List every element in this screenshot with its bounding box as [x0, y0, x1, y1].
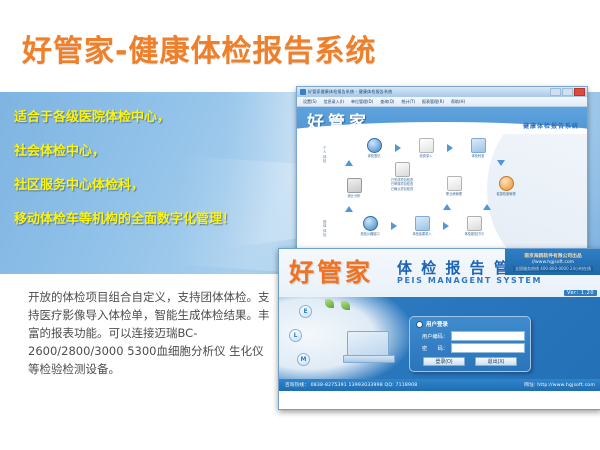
flow-node-department[interactable]: 体检科室: [457, 138, 499, 158]
page-title: 好管家-健康体检报告系统: [22, 26, 376, 70]
doc-edit-icon: [419, 138, 434, 153]
leaf-icon-2: [341, 301, 350, 310]
username-row: 用户编码：: [410, 330, 530, 342]
banner-line-2: 社会体检中心，: [14, 140, 235, 159]
flow-node-report-print[interactable]: 体检报告打印: [453, 216, 495, 236]
login-window-header: 好管家 体 检 报 告 管 理 系 统 PEIS MANAGENT SYSTEM…: [279, 249, 600, 297]
menu-item-help[interactable]: 帮助(H): [451, 99, 465, 105]
page-header: 好管家-健康体检报告系统: [0, 0, 600, 92]
description-paragraph: 开放的体检项目组合自定义，支持团体体检。支持医疗影像导入体检单，智能生成体检结果…: [28, 288, 276, 378]
flow-stack-label-3: 已确认项目检查: [381, 187, 423, 191]
folder-icon: [471, 138, 486, 153]
login-panel-header: 用户登录: [410, 317, 530, 330]
menu-bar[interactable]: 设置(S) 信息录入(I) 单位管理(D) 查询(Q) 统计(T) 报表管理(R…: [297, 97, 587, 107]
globe-icon: [367, 138, 382, 153]
window-title: 好管家健康体检报告系统 - 健康体检报告系统: [308, 89, 550, 95]
login-button[interactable]: 登录(O): [423, 357, 465, 366]
leaf-icon-1: [325, 299, 334, 308]
version-badge: Ver: 1.20: [564, 290, 597, 296]
app-icon: [300, 89, 306, 95]
login-buttons: 登录(O) 退出(X): [410, 357, 530, 366]
corner-url: //www.hgjsoft.com: [532, 260, 574, 265]
flow-node-registration[interactable]: 体检登记: [353, 138, 395, 158]
password-label: 密 码：: [416, 345, 448, 352]
flow-group-personal: 个人体检: [323, 146, 329, 164]
flow-group-team: 团体体检: [323, 220, 329, 238]
app-window-flowchart: 好管家健康体检报告系统 - 健康体检报告系统 设置(S) 信息录入(I) 单位管…: [296, 86, 588, 260]
flow-arrow-right-3: [391, 222, 397, 230]
login-panel: 用户登录 用户编码： 密 码： 登录(O) 退出(X): [409, 316, 531, 372]
art-dot-b: L: [289, 329, 302, 342]
flow-node-fee-entry[interactable]: 收费录入: [405, 138, 447, 158]
flow-arrow-right-2: [447, 144, 453, 152]
flow-node-label: 检验仪器接口: [349, 232, 391, 236]
globe2-icon: [363, 216, 378, 231]
flow-node-occupational[interactable]: 职业病管理: [433, 176, 475, 196]
art-dot-a: E: [299, 305, 312, 318]
bullet-icon: [416, 321, 423, 328]
laptop-icon: [347, 331, 389, 359]
flow-arrow-up-4: [483, 204, 491, 210]
username-label: 用户编码：: [416, 333, 448, 340]
window-titlebar[interactable]: 好管家健康体检报告系统 - 健康体检报告系统: [297, 87, 587, 97]
banner-line-4: 移动体检车等机构的全面数字化管理！: [14, 208, 235, 227]
login-title-en: PEIS MANAGENT SYSTEM: [397, 276, 542, 285]
flow-node-instrument-if[interactable]: 检验仪器接口: [349, 216, 391, 236]
menu-item-query[interactable]: 查询(Q): [380, 99, 394, 105]
flow-node-label: 体检登记: [353, 154, 395, 158]
app-window-login: 好管家 体 检 报 告 管 理 系 统 PEIS MANAGENT SYSTEM…: [278, 248, 600, 410]
flow-arrow-up-3: [443, 204, 451, 210]
flow-node-health-archive[interactable]: 健康档案管理: [485, 176, 527, 196]
menu-item-unit-manage[interactable]: 单位管理(D): [351, 99, 373, 105]
password-row: 密 码：: [410, 342, 530, 354]
book-icon: [395, 162, 410, 177]
password-input[interactable]: [451, 343, 525, 353]
status-website: 网址: http://www.hgjsoft.com: [524, 382, 595, 388]
banner-text-block: 适合于各级医院体检中心， 社会体检中心， 社区服务中心体检科， 移动体检车等机构…: [14, 106, 235, 242]
menu-item-statistics[interactable]: 统计(T): [401, 99, 415, 105]
flow-arrow-up-2: [345, 206, 353, 212]
username-input[interactable]: [451, 331, 525, 341]
flow-node-label: 职业病管理: [433, 192, 475, 196]
flow-node-statistics[interactable]: 统计分析: [333, 178, 375, 198]
flow-node-label: 收费录入: [405, 154, 447, 158]
art-dot-c: M: [297, 353, 310, 366]
laptop-icon: [415, 216, 430, 231]
corner-note: 全国服务热线 400-800-0000 24小时在线: [513, 266, 593, 272]
status-bar: 咨询热线： 0838-8275391 13993033998 QQ: 71189…: [279, 379, 600, 391]
flow-node-label: 体检科室: [457, 154, 499, 158]
promo-page: 好管家-健康体检报告系统 适合于各级医院体检中心， 社会体检中心， 社区服务中心…: [0, 0, 600, 450]
flow-node-result-stack[interactable]: 已完成项目检查 已审核项目检查 已确认项目检查: [381, 162, 423, 191]
window-controls[interactable]: [550, 88, 587, 96]
corner-company-name: 南京海鸥软件有限公司出品: [524, 252, 582, 259]
minimize-icon[interactable]: [550, 88, 561, 96]
flow-node-result-entry[interactable]: 体检结果录入: [401, 216, 443, 236]
menu-item-info-entry[interactable]: 信息录入(I): [324, 99, 344, 105]
chart-icon: [347, 178, 362, 193]
book2-icon: [467, 216, 482, 231]
status-contact: 咨询热线： 0838-8275391 13993033998 QQ: 71189…: [285, 382, 417, 388]
flow-node-label: 体检结果录入: [401, 232, 443, 236]
flow-node-label: 健康档案管理: [485, 192, 527, 196]
flow-node-label: 体检报告打印: [453, 232, 495, 236]
menu-item-reports[interactable]: 报表管理(R): [422, 99, 444, 105]
close-icon[interactable]: [574, 88, 585, 96]
flow-arrow-down-1: [497, 160, 505, 166]
maximize-icon[interactable]: [562, 88, 573, 96]
menu-item-settings[interactable]: 设置(S): [303, 99, 317, 105]
login-header-label: 用户登录: [426, 320, 448, 328]
workflow-diagram: 个人体检 团体体检 体检登记 收费录入 体检科室: [297, 134, 587, 259]
login-logo-text: 好管家: [289, 253, 373, 289]
flow-node-label: 统计分析: [333, 194, 375, 198]
flow-arrow-right-1: [395, 144, 401, 152]
corner-company-block: 南京海鸥软件有限公司出品 //www.hgjsoft.com 全国服务热线 40…: [505, 249, 600, 275]
app-subtitle: 健康体检报告系统: [523, 121, 579, 130]
flow-arrow-up-1: [345, 160, 353, 166]
exit-button[interactable]: 退出(X): [475, 357, 517, 366]
flow-arrow-right-4: [443, 222, 449, 230]
decorative-artwork: E L M: [285, 299, 425, 391]
workflow-canvas: 个人体检 团体体检 体检登记 收费录入 体检科室: [297, 134, 587, 259]
clipboard-icon: [447, 176, 462, 191]
orange-folder-icon: [499, 176, 514, 191]
login-window-body: E L M 用户登录 用户编码： 密 码：: [279, 297, 600, 391]
banner-line-1: 适合于各级医院体检中心，: [14, 106, 235, 125]
banner-line-3: 社区服务中心体检科，: [14, 174, 235, 193]
